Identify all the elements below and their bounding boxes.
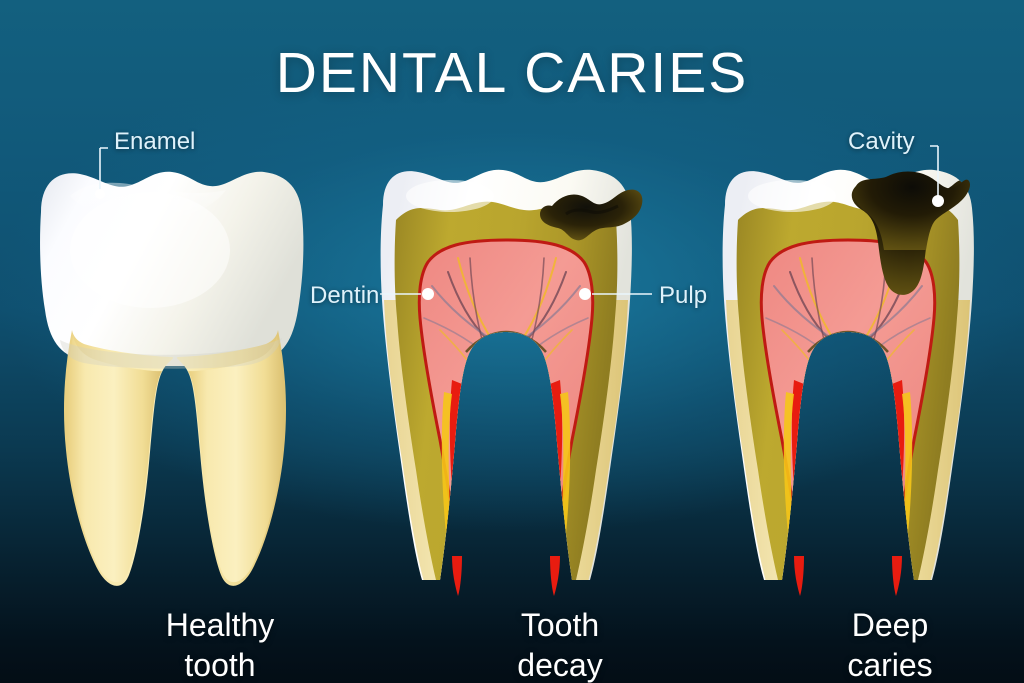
label-enamel: Enamel (114, 128, 195, 156)
deep-caries-root-tip-right (892, 556, 902, 596)
enamel-target-dot (95, 189, 105, 199)
caption-healthy-line1: Healthy (60, 605, 380, 645)
healthy-tooth-root-right (188, 336, 284, 582)
healthy-tooth (40, 172, 303, 586)
caption-healthy-tooth: Healthy tooth (60, 605, 380, 683)
caption-decay-line2: decay (400, 645, 720, 683)
caption-deep-line1: Deep (740, 605, 1024, 645)
caption-deep-line2: caries (740, 645, 1024, 683)
deep-caries-root-tip-left (794, 556, 804, 596)
decay-tooth-crown-highlight (406, 180, 494, 212)
cavity-target-dot (932, 195, 944, 207)
label-pulp: Pulp (659, 282, 707, 310)
label-cavity: Cavity (848, 128, 915, 156)
caption-decay-line1: Tooth (400, 605, 720, 645)
caption-healthy-line2: tooth (60, 645, 380, 683)
decay-tooth-root-tip-right (550, 556, 560, 596)
dental-caries-infographic: DENTAL CARIES (0, 0, 1024, 683)
caption-tooth-decay: Tooth decay (400, 605, 720, 683)
deep-caries-crown-highlight (748, 180, 836, 212)
decay-tooth (381, 170, 643, 596)
caption-deep-caries: Deep caries (740, 605, 1024, 683)
pulp-target-dot (579, 288, 591, 300)
decay-tooth-root-tip-left (452, 556, 462, 596)
deep-caries-tooth (723, 170, 974, 596)
dentin-target-dot (422, 288, 434, 300)
healthy-tooth-highlight (70, 192, 230, 308)
label-dentin: Dentin (310, 282, 379, 310)
healthy-tooth-root-left (66, 336, 162, 582)
teeth-illustration (0, 0, 1024, 683)
